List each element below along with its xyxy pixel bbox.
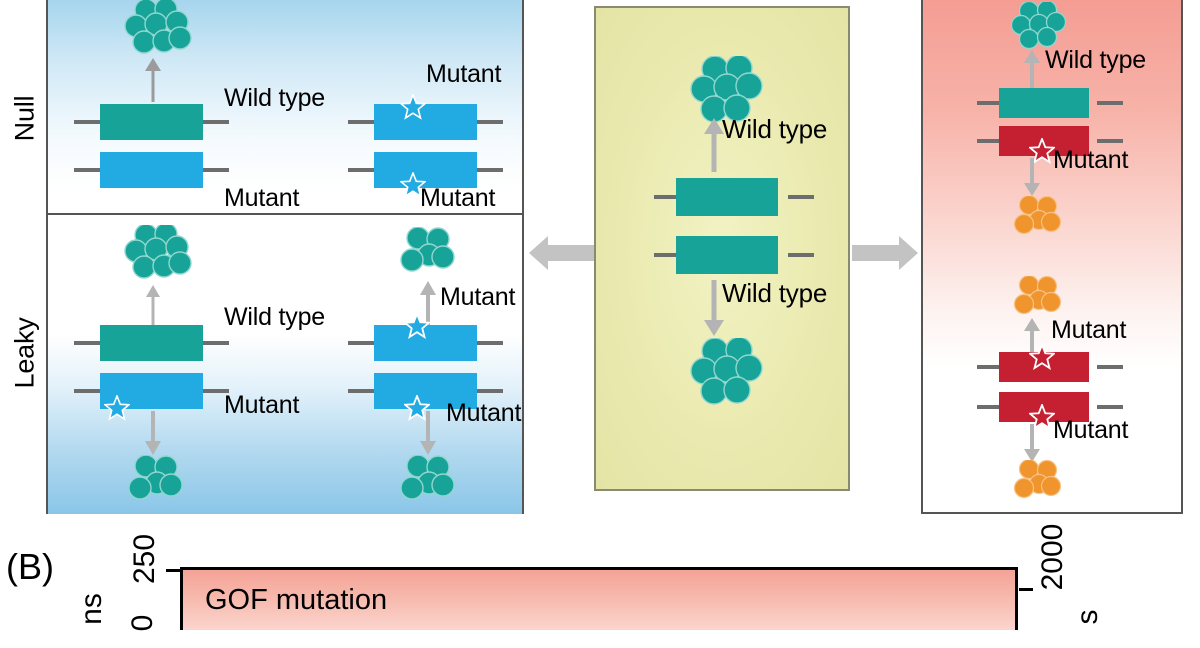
arrow-down-leaky-right — [419, 411, 437, 455]
cluster-orange-gof-top — [1013, 196, 1063, 243]
allele-wildtype-null-left — [74, 104, 229, 140]
allele-mutant-leaky-left — [74, 373, 229, 409]
gof-mutation-bar: GOF mutation — [180, 567, 1018, 630]
left-axis-tick-upper — [166, 569, 180, 572]
allele-wildtype-leaky-left — [74, 325, 229, 361]
arrow-down-gof-top — [1023, 158, 1041, 196]
label-mutant-gof-bottom-bottom: Mutant — [1053, 418, 1128, 443]
label-wildtype-null-left: Wild type — [224, 86, 325, 111]
star-icon — [404, 313, 430, 339]
arrow-up-gof-top — [1023, 50, 1041, 88]
subpanel-leaky: Wild type Mutant — [48, 215, 522, 514]
panel-wildtype: Wild type Wild type — [594, 6, 850, 491]
label-mutant-null-right-bottom: Mutant — [420, 186, 495, 211]
label-mutant-leaky-right-bottom: Mutant — [446, 401, 521, 426]
left-axis-tick-label-250: 250 — [115, 542, 175, 602]
right-axis-title: s — [1058, 600, 1118, 640]
panel-gof: Wild type Mutant — [921, 0, 1183, 514]
label-mutant-leaky-left: Mutant — [224, 393, 299, 418]
label-wildtype-gof-top: Wild type — [1045, 48, 1146, 73]
cluster-teal-large-leaky-left — [122, 225, 198, 288]
cluster-teal-small-leaky-right-bottom — [400, 455, 456, 510]
left-axis-tick-label-0: 0 — [118, 606, 168, 646]
allele-wildtype-center-top — [654, 178, 814, 216]
cluster-teal-small-leaky-right-top — [400, 227, 456, 282]
allele-mutant-null-left — [74, 152, 229, 188]
star-icon — [104, 395, 130, 421]
label-wildtype-leaky-left: Wild type — [224, 305, 325, 330]
panel-b-label: (B) — [6, 546, 54, 588]
arrow-down-leaky-left — [144, 411, 162, 455]
panel-lof: Wild type Mutant Mutant — [46, 0, 524, 514]
label-mutant-gof-top: Mutant — [1053, 148, 1128, 173]
arrow-down-center — [703, 280, 725, 336]
label-wildtype-center-bottom: Wild type — [722, 280, 827, 306]
cluster-teal-large-center-bottom — [689, 338, 765, 413]
cluster-teal-small-leaky-left — [128, 455, 184, 510]
gof-mutation-bar-label: GOF mutation — [205, 584, 387, 617]
figure-canvas: Null Leaky — [0, 0, 1200, 630]
arrow-up-null-left — [143, 58, 163, 102]
subpanel-null: Wild type Mutant Mutant — [48, 0, 522, 215]
arrow-left-grey-icon — [529, 236, 595, 275]
left-axis-title: ns — [62, 592, 122, 632]
allele-mutant-null-right-bottom — [348, 152, 503, 188]
allele-mutant-gof-bottom-top — [977, 352, 1123, 382]
arrow-down-gof-bottom — [1023, 424, 1041, 462]
allele-mutant-leaky-right-top — [348, 325, 503, 361]
star-icon — [1029, 344, 1055, 370]
cluster-teal-large-null-left — [122, 0, 198, 63]
cluster-orange-gof-bottom — [1013, 460, 1063, 507]
label-mutant-null-left: Mutant — [224, 186, 299, 211]
label-wildtype-center-top: Wild type — [722, 116, 827, 142]
label-mutant-null-right-top: Mutant — [426, 62, 501, 87]
allele-wildtype-center-bottom — [654, 236, 814, 274]
allele-mutant-null-right-top — [348, 104, 503, 140]
label-mutant-gof-bottom-top: Mutant — [1051, 318, 1126, 343]
arrow-right-grey-icon — [852, 236, 918, 275]
arrow-up-leaky-left — [144, 285, 162, 325]
star-icon — [400, 94, 426, 120]
label-mutant-leaky-right-top: Mutant — [440, 285, 515, 310]
allele-wildtype-gof-top — [977, 88, 1123, 118]
